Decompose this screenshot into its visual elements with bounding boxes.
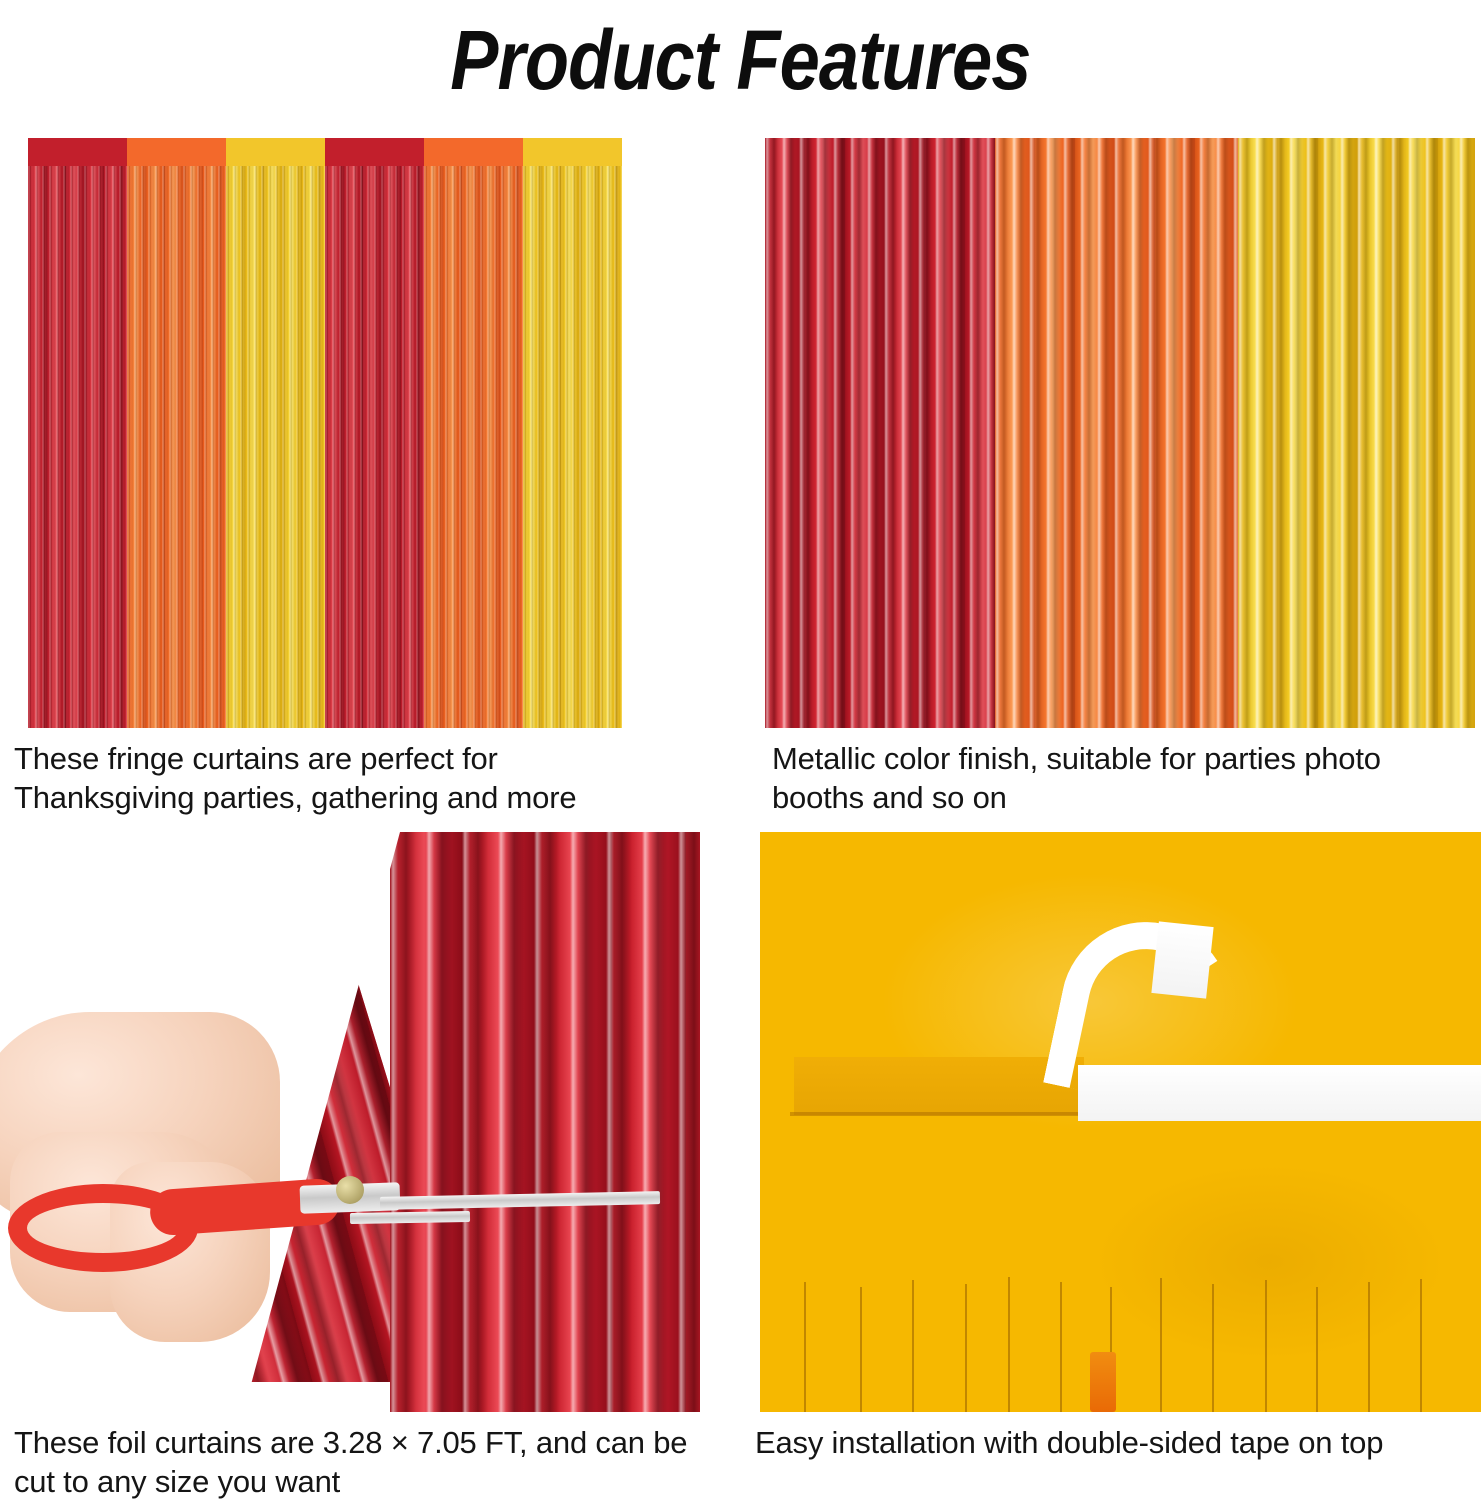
feature-grid: These fringe curtains are perfect for Th… (0, 0, 1481, 1500)
feature-2-image (765, 138, 1475, 728)
panel-strands (325, 166, 424, 728)
feature-card-bottom-left (0, 832, 700, 1412)
curtain-panel-red-2 (325, 138, 424, 728)
panel-header-band (28, 138, 127, 166)
foil-orange-highlight (1090, 1352, 1116, 1412)
curtain-panel-orange-1 (127, 138, 226, 728)
fringe-slit (804, 1282, 806, 1412)
feature-1-image (28, 138, 622, 728)
fringe-slit (1265, 1280, 1267, 1412)
fringe-slit (1316, 1287, 1318, 1412)
foil-shadow (1090, 1162, 1450, 1362)
fringe-slit (1212, 1284, 1214, 1412)
panel-strands (127, 166, 226, 728)
fringe-slit (1060, 1282, 1062, 1412)
feature-card-top-right (765, 138, 1475, 728)
panel-header-band (226, 138, 325, 166)
feature-3-caption: These foil curtains are 3.28 × 7.05 FT, … (14, 1424, 704, 1502)
curtain-body-red (390, 832, 700, 1412)
fringe-slit (1420, 1279, 1422, 1412)
panel-strands (226, 166, 325, 728)
fringe-slit (1368, 1282, 1370, 1412)
panel-header-band (424, 138, 523, 166)
panel-header-band (325, 138, 424, 166)
curtain-panel-yellow-closeup (1238, 138, 1475, 728)
feature-2-caption: Metallic color finish, suitable for part… (772, 740, 1477, 818)
fringe-slit (1008, 1277, 1010, 1412)
scissors-blade-lower (350, 1211, 470, 1224)
foil-adhesive-band (794, 1057, 1084, 1115)
fringe-slit (1160, 1278, 1162, 1412)
feature-1-caption: These fringe curtains are perfect for Th… (14, 740, 634, 818)
scissors-pivot-screw (336, 1176, 364, 1204)
curtain-panel-yellow-1 (226, 138, 325, 728)
feature-4-image (760, 832, 1481, 1412)
panel-header-band (127, 138, 226, 166)
fringe-curtain-closeup (765, 138, 1475, 728)
fringe-slit (912, 1280, 914, 1412)
curtain-panel-orange-closeup (995, 138, 1238, 728)
panel-header-band (523, 138, 622, 166)
foil-fold-line (790, 1112, 1090, 1116)
curtain-panel-red-1 (28, 138, 127, 728)
fringe-curtain-six-panel (28, 138, 622, 728)
curtain-panel-red-closeup (765, 138, 995, 728)
panel-strands (523, 166, 622, 728)
feature-4-caption: Easy installation with double-sided tape… (755, 1424, 1481, 1463)
curtain-panel-orange-2 (424, 138, 523, 728)
feature-card-bottom-right (760, 832, 1481, 1412)
feature-3-image (0, 832, 700, 1412)
feature-card-top-left (28, 138, 622, 728)
tape-liner-tip (1151, 921, 1213, 998)
fringe-slit (860, 1287, 862, 1412)
curtain-panel-yellow-2 (523, 138, 622, 728)
panel-strands (28, 166, 127, 728)
panel-strands (424, 166, 523, 728)
fringe-slit (965, 1284, 967, 1412)
